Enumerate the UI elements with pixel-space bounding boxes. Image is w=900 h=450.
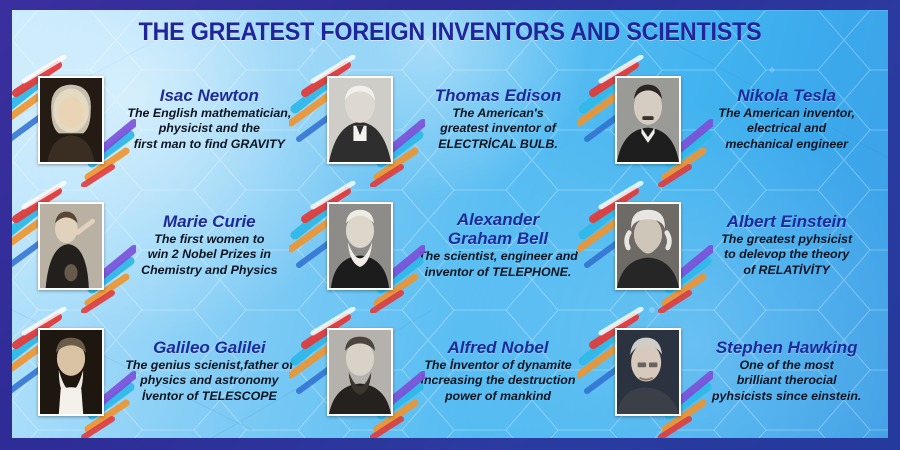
portrait-frame: [327, 202, 393, 290]
portrait-frame: [38, 202, 104, 290]
portrait-frame: [615, 328, 681, 416]
portrait-figure: [22, 195, 114, 295]
portrait-frame: [38, 76, 104, 164]
scientist-name: Marie Curie: [116, 212, 303, 231]
portrait-figure: [599, 69, 691, 169]
scientist-description: The genius scienist,father of physics an…: [116, 358, 303, 403]
scientist-description: The American's greatest inventor of ELEC…: [405, 106, 592, 151]
portrait-image: [617, 78, 679, 162]
scientist-name: Albert Einstein: [693, 212, 880, 231]
scientist-text: Isac Newton The English mathematician, p…: [114, 86, 303, 151]
portrait-image: [329, 78, 391, 162]
portrait-image: [329, 330, 391, 414]
portrait-figure: [22, 321, 114, 421]
scientist-card[interactable]: Albert Einstein The greatest pyhsicist t…: [595, 182, 884, 308]
scientist-text: Albert Einstein The greatest pyhsicist t…: [691, 212, 880, 277]
scientist-card[interactable]: Nikola Tesla The American inventor, elec…: [595, 56, 884, 182]
scientist-name: Thomas Edison: [405, 86, 592, 105]
scientist-text: Alfred Nobel The İnventor of dynamite in…: [403, 338, 592, 403]
scientist-name: Stephen Hawking: [693, 338, 880, 357]
scientist-text: Nikola Tesla The American inventor, elec…: [691, 86, 880, 151]
portrait-frame: [38, 328, 104, 416]
portrait-image: [329, 204, 391, 288]
scientist-card[interactable]: Galileo Galilei The genius scienist,fath…: [18, 308, 307, 434]
portrait-figure: [311, 195, 403, 295]
portrait-image: [617, 330, 679, 414]
scientist-description: The greatest pyhsicist to delevop the th…: [693, 232, 880, 277]
scientist-text: Thomas Edison The American's greatest in…: [403, 86, 592, 151]
scientist-card[interactable]: Alfred Nobel The İnventor of dynamite in…: [307, 308, 596, 434]
portrait-image: [617, 204, 679, 288]
portrait-frame: [615, 76, 681, 164]
scientist-card[interactable]: Stephen Hawking One of the most brillian…: [595, 308, 884, 434]
scientist-text: Marie Curie The first women to win 2 Nob…: [114, 212, 303, 277]
poster-root: THE GREATEST FOREIGN INVENTORS AND SCIEN…: [0, 0, 900, 450]
scientist-description: The scientist, engineer and inventor of …: [405, 249, 592, 279]
scientist-description: The İnventor of dynamite increasing the …: [405, 358, 592, 403]
scientist-description: The English mathematician, physicist and…: [116, 106, 303, 151]
portrait-frame: [615, 202, 681, 290]
portrait-image: [40, 330, 102, 414]
scientist-text: Stephen Hawking One of the most brillian…: [691, 338, 880, 403]
scientist-description: The first women to win 2 Nobel Prizes in…: [116, 232, 303, 277]
portrait-figure: [311, 321, 403, 421]
portrait-frame: [327, 328, 393, 416]
portrait-image: [40, 78, 102, 162]
scientists-grid: Isac Newton The English mathematician, p…: [18, 56, 884, 434]
scientist-name: Galileo Galilei: [116, 338, 303, 357]
scientist-card[interactable]: Marie Curie The first women to win 2 Nob…: [18, 182, 307, 308]
scientist-card[interactable]: Isac Newton The English mathematician, p…: [18, 56, 307, 182]
scientist-name: Alfred Nobel: [405, 338, 592, 357]
scientist-name: Alexander Graham Bell: [405, 210, 592, 248]
portrait-frame: [327, 76, 393, 164]
portrait-figure: [599, 195, 691, 295]
portrait-figure: [22, 69, 114, 169]
scientist-card[interactable]: Alexander Graham Bell The scientist, eng…: [307, 182, 596, 308]
scientist-text: Galileo Galilei The genius scienist,fath…: [114, 338, 303, 403]
page-title: THE GREATEST FOREIGN INVENTORS AND SCIEN…: [43, 18, 858, 47]
poster-panel: THE GREATEST FOREIGN INVENTORS AND SCIEN…: [12, 10, 888, 438]
scientist-card[interactable]: Thomas Edison The American's greatest in…: [307, 56, 596, 182]
portrait-figure: [599, 321, 691, 421]
scientist-name: Isac Newton: [116, 86, 303, 105]
scientist-text: Alexander Graham Bell The scientist, eng…: [403, 210, 592, 279]
portrait-figure: [311, 69, 403, 169]
scientist-description: One of the most brilliant therocial pyhs…: [693, 358, 880, 403]
scientist-description: The American inventor, electrical and me…: [693, 106, 880, 151]
portrait-image: [40, 204, 102, 288]
scientist-name: Nikola Tesla: [693, 86, 880, 105]
